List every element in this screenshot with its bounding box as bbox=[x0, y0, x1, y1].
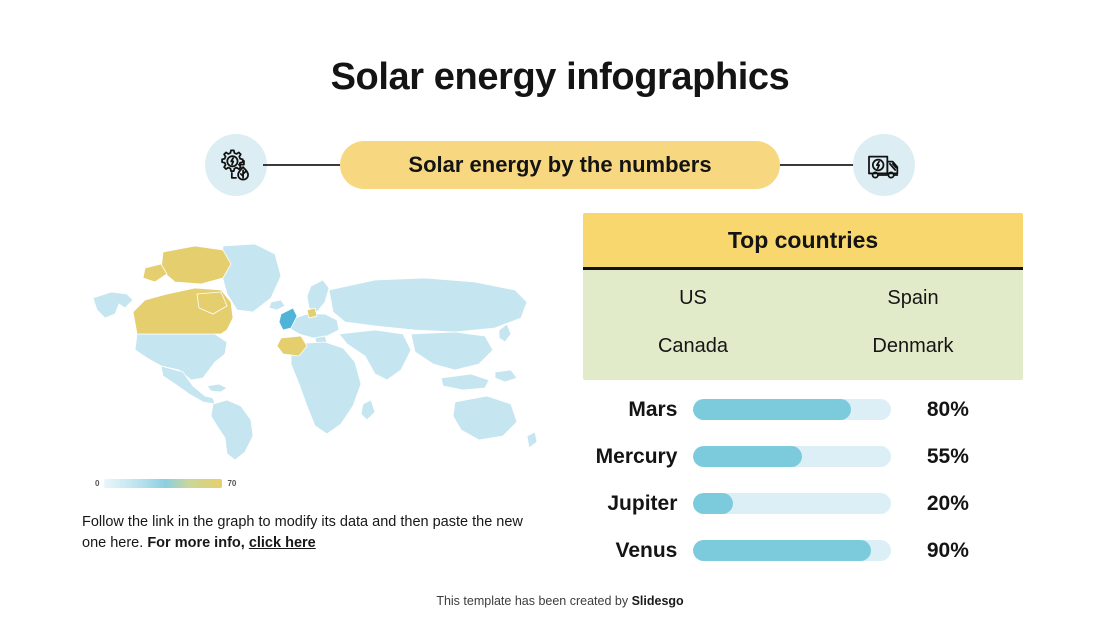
table-cell: Denmark bbox=[803, 335, 1023, 358]
map-caption: Follow the link in the graph to modify i… bbox=[82, 512, 532, 554]
legend-min-value: 0 bbox=[95, 479, 99, 488]
list-item: Jupiter 20% bbox=[560, 480, 1020, 527]
gear-energy-leaf-glyph bbox=[216, 145, 256, 185]
bar-track bbox=[693, 446, 890, 467]
footer-credit: This template has been created by Slides… bbox=[0, 594, 1120, 608]
list-item: Venus 90% bbox=[560, 527, 1020, 574]
bar-label: Mercury bbox=[560, 445, 693, 469]
page-title: Solar energy infographics bbox=[0, 56, 1120, 99]
bar-label: Jupiter bbox=[560, 492, 693, 516]
bar-label: Venus bbox=[560, 539, 693, 563]
electric-truck-glyph bbox=[864, 145, 904, 185]
bar-value: 55% bbox=[891, 445, 1020, 469]
caption-bold-text: For more info, bbox=[147, 535, 249, 551]
table-cell: Canada bbox=[583, 335, 803, 358]
connector-line-right bbox=[776, 164, 857, 166]
table-cell: US bbox=[583, 287, 803, 310]
bar-value: 90% bbox=[891, 539, 1020, 563]
click-here-link[interactable]: click here bbox=[249, 535, 316, 551]
bar-value: 20% bbox=[891, 492, 1020, 516]
table-header: Top countries bbox=[583, 213, 1023, 270]
connector-line-left bbox=[263, 164, 344, 166]
table-cell: Spain bbox=[803, 287, 1023, 310]
table-row: Canada Denmark bbox=[583, 322, 1023, 370]
bar-track bbox=[693, 399, 890, 420]
banner-row: Solar energy by the numbers bbox=[205, 132, 915, 198]
electric-delivery-truck-icon bbox=[853, 134, 915, 196]
bar-fill bbox=[693, 493, 732, 514]
table-body: US Spain Canada Denmark bbox=[583, 270, 1023, 380]
world-map-panel: 0 70 bbox=[75, 238, 545, 490]
top-countries-table: Top countries US Spain Canada Denmark bbox=[583, 213, 1023, 380]
legend-max-value: 70 bbox=[227, 479, 236, 488]
list-item: Mars 80% bbox=[560, 386, 1020, 433]
footer-brand: Slidesgo bbox=[632, 594, 684, 608]
table-row: US Spain bbox=[583, 274, 1023, 322]
gear-energy-leaf-icon bbox=[205, 134, 267, 196]
world-map bbox=[75, 238, 545, 468]
bar-fill bbox=[693, 540, 871, 561]
bar-track bbox=[693, 540, 890, 561]
planet-progress-chart: Mars 80% Mercury 55% Jupiter 20% Venus 9… bbox=[560, 386, 1020, 574]
map-legend: 0 70 bbox=[95, 479, 236, 488]
section-banner: Solar energy by the numbers bbox=[340, 141, 780, 189]
footer-text: This template has been created by bbox=[436, 594, 631, 608]
legend-gradient-bar bbox=[104, 479, 222, 488]
bar-track bbox=[693, 493, 890, 514]
bar-fill bbox=[693, 446, 802, 467]
bar-value: 80% bbox=[891, 398, 1020, 422]
list-item: Mercury 55% bbox=[560, 433, 1020, 480]
bar-label: Mars bbox=[560, 398, 693, 422]
bar-fill bbox=[693, 399, 851, 420]
